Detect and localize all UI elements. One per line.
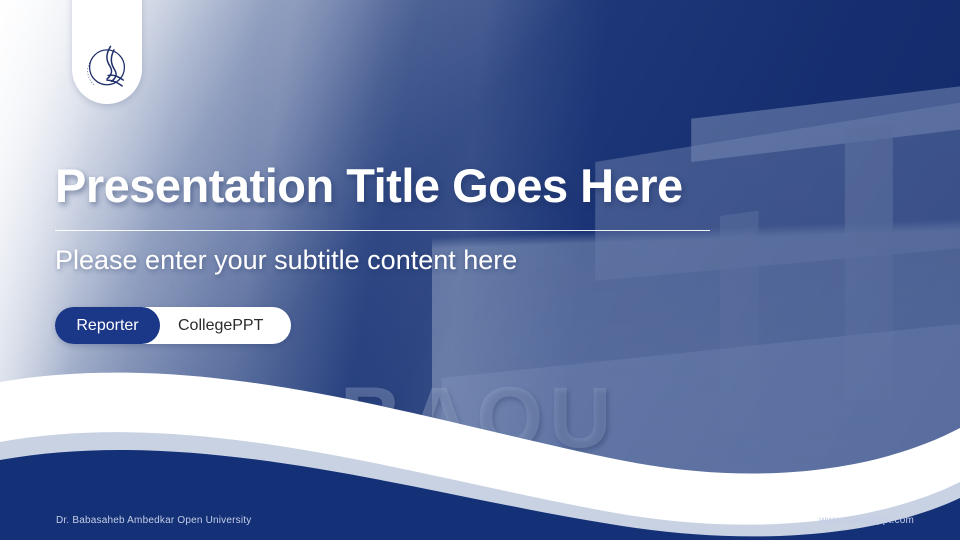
page-subtitle: Please enter your subtitle content here [55, 245, 517, 276]
presentation-slide: BAOU Presentation Title Goes Here Please… [0, 0, 960, 540]
reporter-label: Reporter [55, 307, 160, 344]
reporter-pill[interactable]: Reporter CollegePPT [55, 307, 291, 344]
title-divider [55, 230, 710, 231]
university-logo-badge [72, 0, 142, 104]
footer-website[interactable]: www.collegeppt.com [819, 515, 914, 526]
footer-organization: Dr. Babasaheb Ambedkar Open University [56, 515, 251, 526]
baou-flame-emblem-icon [78, 36, 136, 94]
page-title: Presentation Title Goes Here [55, 158, 683, 213]
bottom-wave-decoration [0, 310, 960, 540]
reporter-value: CollegePPT [160, 317, 285, 335]
